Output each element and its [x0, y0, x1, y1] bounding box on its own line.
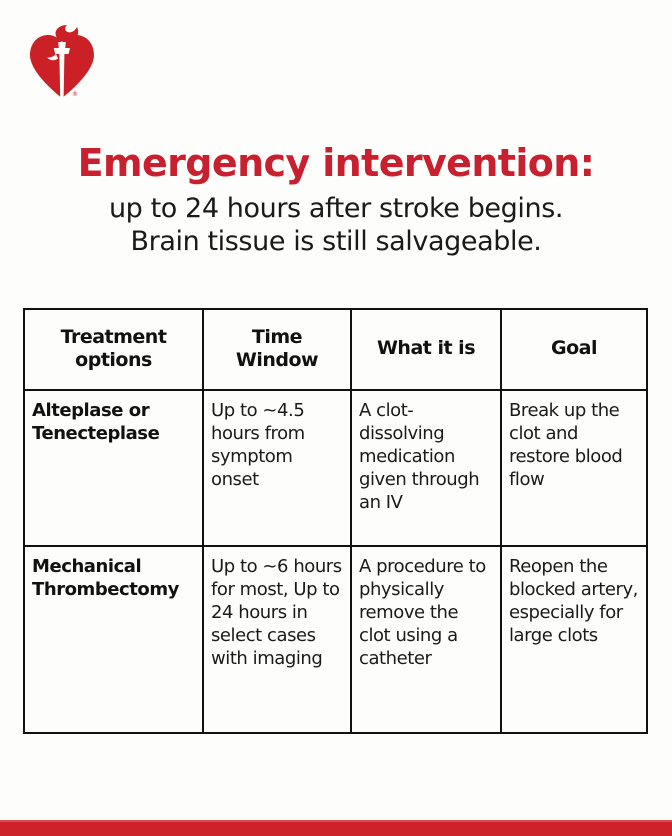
infographic-page: ® Emergency intervention: up to 24 hours… [0, 0, 672, 836]
bottom-accent-bar [0, 820, 672, 836]
what-it-is-text: A clot-dissolving medication given throu… [352, 391, 500, 518]
time-window-text: Up to ~6 hours for most, Up to 24 hours … [204, 547, 350, 674]
column-header-line-1: Time [236, 326, 318, 349]
cell-what-it-is: A procedure to physically remove the clo… [351, 546, 501, 733]
bottom-accent-bar-highlight [0, 820, 672, 822]
registered-mark: ® [72, 91, 78, 98]
column-header-line-1: Goal [551, 337, 597, 360]
column-header-treatment-options: Treatment options [24, 309, 203, 390]
what-it-is-text: A procedure to physically remove the clo… [352, 547, 500, 674]
column-header-line-2: Window [236, 349, 318, 372]
treatment-name: Alteplase or Tenecteplase [25, 391, 202, 449]
column-header-time-window: Time Window [203, 309, 351, 390]
cell-time-window: Up to ~6 hours for most, Up to 24 hours … [203, 546, 351, 733]
table-row: Alteplase or Tenecteplase Up to ~4.5 hou… [24, 390, 647, 546]
goal-text: Break up the clot and restore blood flow [502, 391, 646, 495]
cell-goal: Break up the clot and restore blood flow [501, 390, 647, 546]
heart-torch-icon: ® [26, 24, 98, 102]
goal-text: Reopen the blocked artery, especially fo… [502, 547, 646, 651]
cell-treatment: Mechanical Thrombectomy [24, 546, 203, 733]
treatment-name: Mechanical Thrombectomy [25, 547, 202, 605]
table-header-row: Treatment options Time Window [24, 309, 647, 390]
time-window-text: Up to ~4.5 hours from symptom onset [204, 391, 350, 495]
table-row: Mechanical Thrombectomy Up to ~6 hours f… [24, 546, 647, 733]
aha-logo: ® [26, 24, 98, 102]
column-header-line-2: options [61, 349, 167, 372]
subtitle-line-2: Brain tissue is still salvageable. [0, 225, 672, 258]
treatment-table-wrapper: Treatment options Time Window [23, 308, 646, 732]
column-header-what-it-is: What it is [351, 309, 501, 390]
subtitle-line-1: up to 24 hours after stroke begins. [0, 192, 672, 225]
cell-goal: Reopen the blocked artery, especially fo… [501, 546, 647, 733]
column-header-goal: Goal [501, 309, 647, 390]
treatment-options-table: Treatment options Time Window [23, 308, 648, 734]
cell-time-window: Up to ~4.5 hours from symptom onset [203, 390, 351, 546]
cell-what-it-is: A clot-dissolving medication given throu… [351, 390, 501, 546]
column-header-line-1: What it is [377, 337, 475, 360]
column-header-line-1: Treatment [61, 326, 167, 349]
page-title: Emergency intervention: [0, 140, 672, 186]
headline-block: Emergency intervention: up to 24 hours a… [0, 140, 672, 258]
cell-treatment: Alteplase or Tenecteplase [24, 390, 203, 546]
